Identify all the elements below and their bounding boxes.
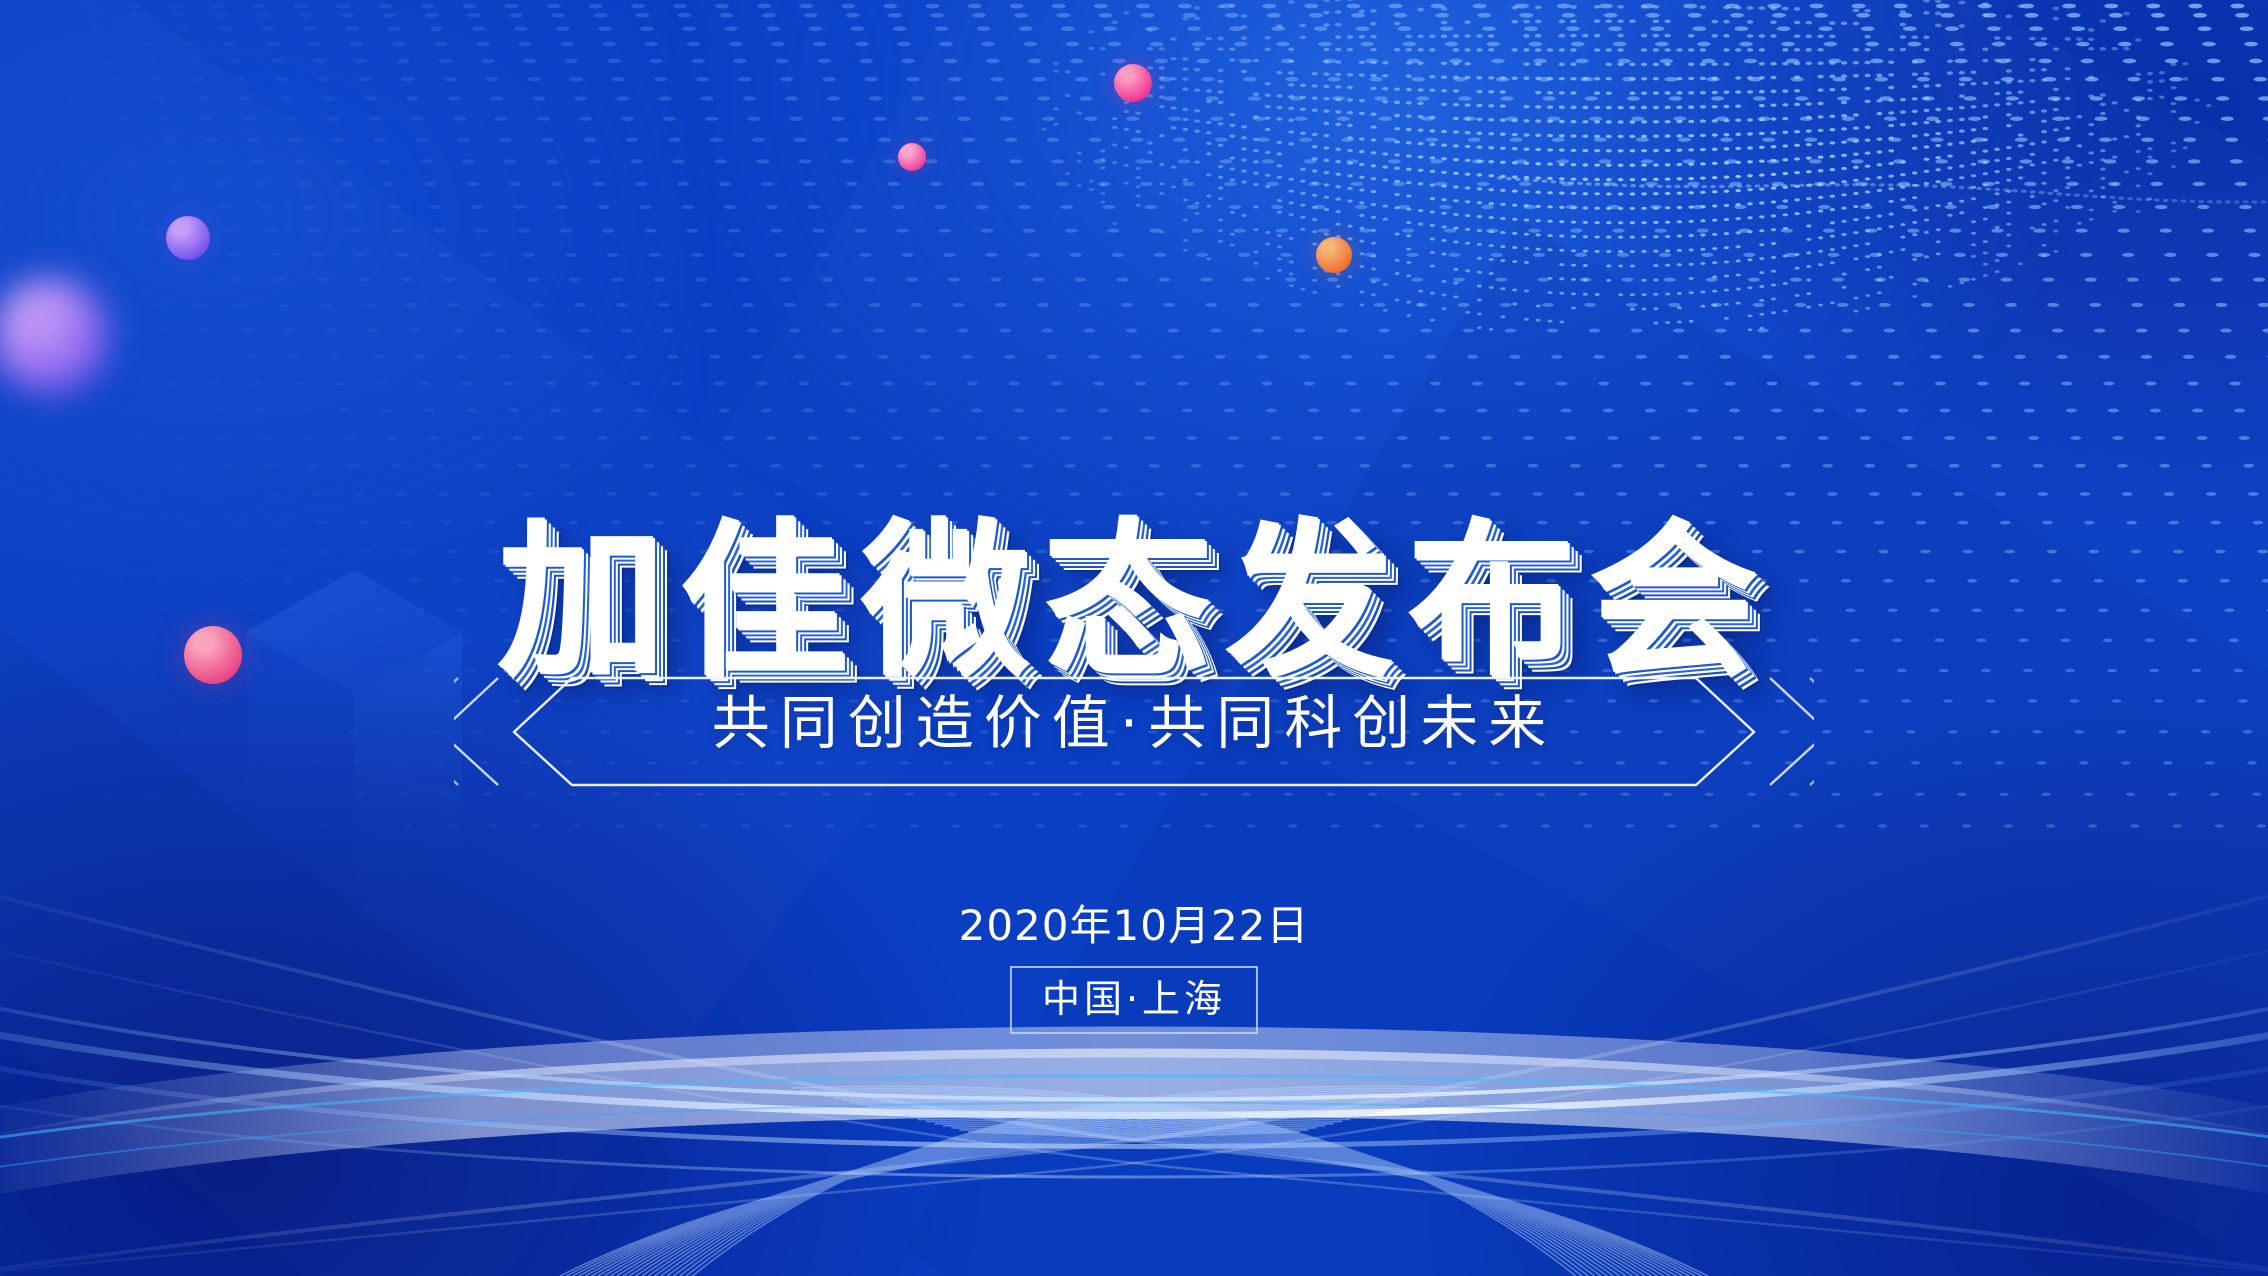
poster-canvas: 加佳微态发布会 共同创造价值·共同科创未来 2020年10月22日 中国·上海 xyxy=(0,0,2268,1276)
location-badge: 中国·上海 xyxy=(1010,966,1258,1034)
location-badge-label: 中国·上海 xyxy=(1042,977,1226,1021)
event-date: 2020年10月22日 xyxy=(0,905,2268,947)
poster-content: 加佳微态发布会 共同创造价值·共同科创未来 2020年10月22日 中国·上海 xyxy=(0,0,2268,1276)
subtitle-text: 共同创造价值·共同科创未来 xyxy=(0,694,2268,752)
